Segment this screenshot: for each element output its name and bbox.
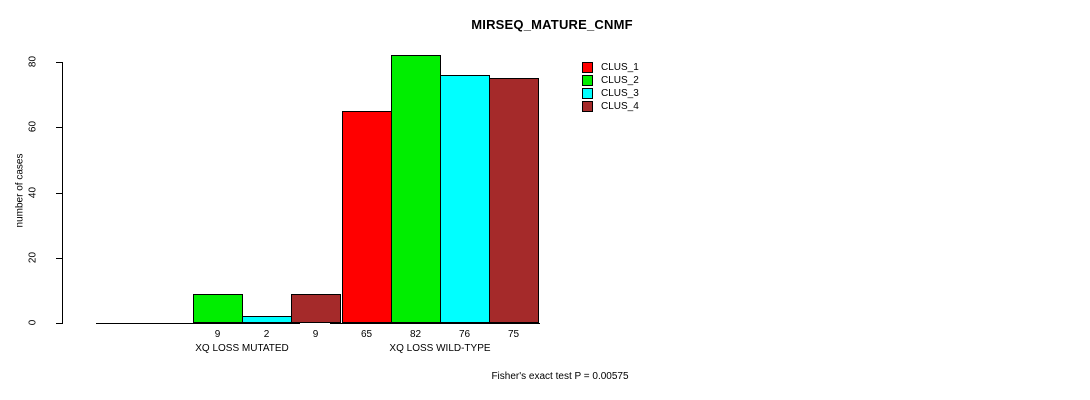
- y-axis-title: number of cases: [15, 141, 26, 241]
- bar-clus_3-wild-type[interactable]: [440, 75, 490, 323]
- y-axis-tick-mark: [56, 193, 62, 194]
- y-axis-tick-label: 20: [28, 242, 39, 272]
- bar-clus_2-mutated[interactable]: [193, 294, 243, 323]
- bar-clus_4-mutated[interactable]: [291, 294, 341, 323]
- y-axis-tick-mark: [56, 258, 62, 259]
- y-axis-tick-mark: [56, 127, 62, 128]
- legend-color-swatch: [582, 88, 593, 99]
- y-axis-tick-mark: [56, 62, 62, 63]
- bar-clus_2-wild-type[interactable]: [391, 55, 441, 323]
- bar-clus_4-wild-type[interactable]: [489, 78, 539, 323]
- y-axis-tick-label: 0: [28, 308, 39, 338]
- group-baseline: [330, 323, 540, 324]
- legend-item-label: CLUS_1: [601, 61, 639, 74]
- legend-color-swatch: [582, 62, 593, 73]
- bar-chart-figure: MIRSEQ_MATURE_CNMF number of cases 02040…: [0, 0, 1090, 400]
- chart-title: MIRSEQ_MATURE_CNMF: [0, 17, 1090, 32]
- group-label-wild-type: XQ LOSS WILD-TYPE: [330, 343, 550, 354]
- group-baseline: [96, 323, 300, 324]
- bar-value-label: 75: [479, 329, 548, 340]
- bar-clus_1-wild-type[interactable]: [342, 111, 392, 323]
- y-axis-tick-label: 40: [28, 177, 39, 207]
- statistical-test-annotation: Fisher's exact test P = 0.00575: [0, 371, 1090, 382]
- bar-clus_3-mutated[interactable]: [242, 316, 292, 323]
- legend-item-label: CLUS_3: [601, 87, 639, 100]
- y-axis-tick-label: 60: [28, 112, 39, 142]
- legend-item-label: CLUS_2: [601, 74, 639, 87]
- legend-color-swatch: [582, 101, 593, 112]
- y-axis-line: [62, 62, 63, 324]
- legend-color-swatch: [582, 75, 593, 86]
- legend-item-label: CLUS_4: [601, 100, 639, 113]
- y-axis-tick-mark: [56, 323, 62, 324]
- y-axis-tick-label: 80: [28, 47, 39, 77]
- group-label-mutated: XQ LOSS MUTATED: [132, 343, 352, 354]
